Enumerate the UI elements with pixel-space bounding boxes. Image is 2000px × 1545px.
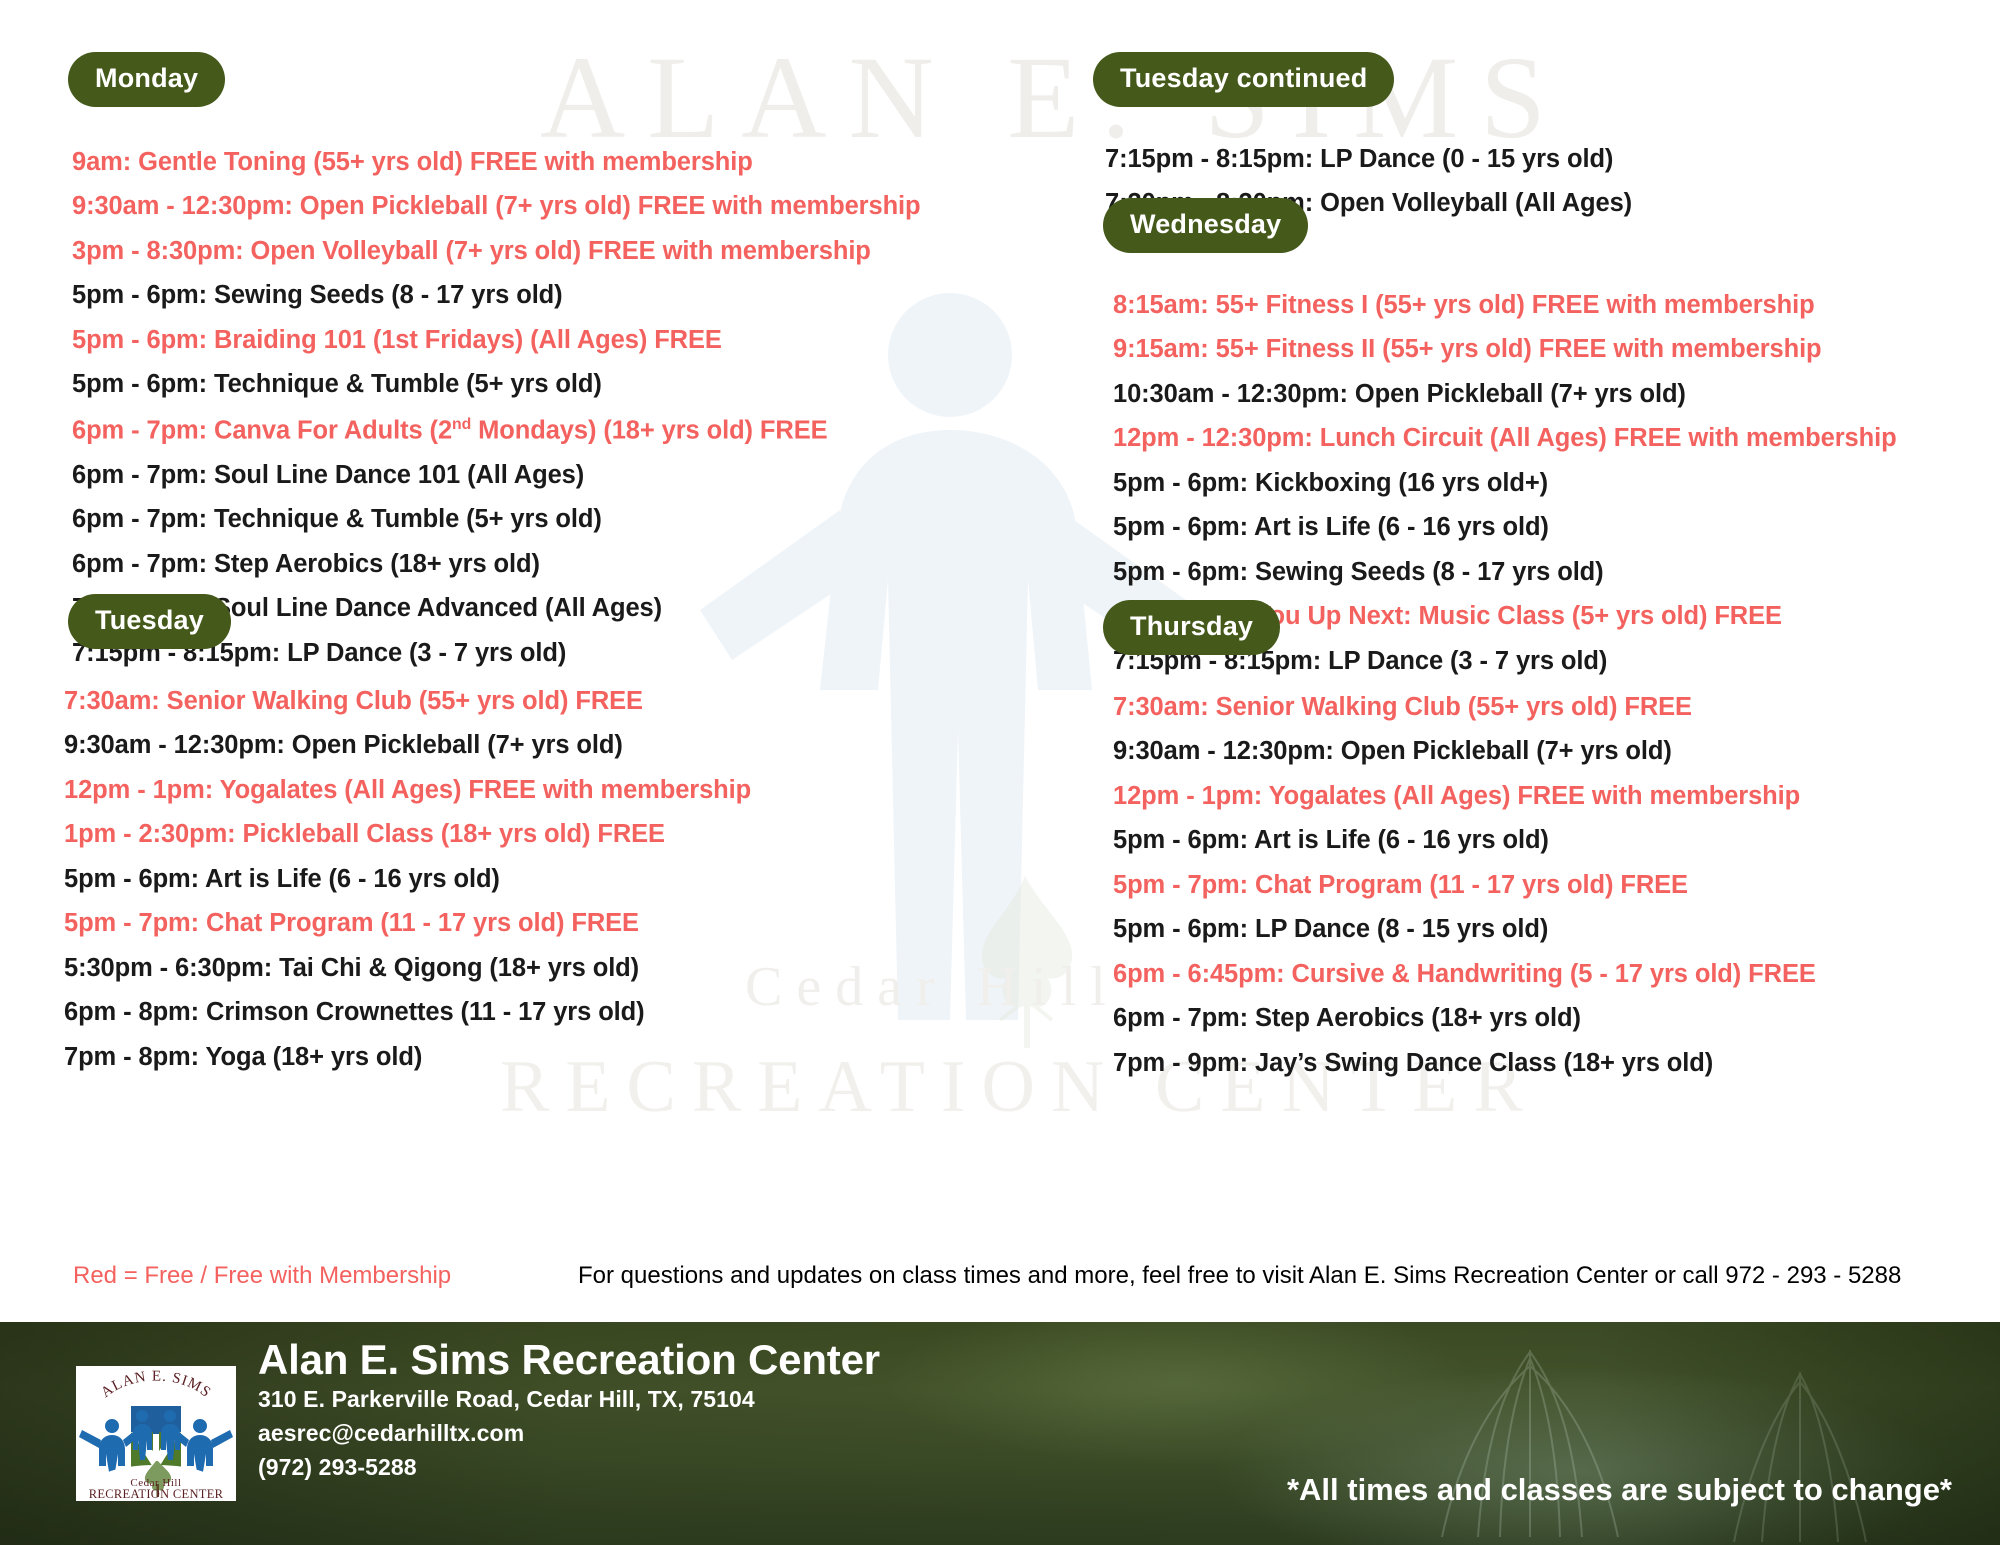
class-list-item: 9:15am: 55+ Fitness II (55+ yrs old) FRE…	[1113, 328, 1897, 373]
class-list-item: 5:30pm - 6:30pm: Tai Chi & Qigong (18+ y…	[64, 946, 751, 991]
class-list-item: 6pm - 8pm: Crimson Crownettes (11 - 17 y…	[64, 991, 751, 1036]
class-list-item: 10:30am - 12:30pm: Open Pickleball (7+ y…	[1113, 372, 1897, 417]
class-list-thursday: 7:30am: Senior Walking Club (55+ yrs old…	[1085, 685, 1816, 1086]
logo-artwork: ALAN E. SIMS	[76, 1366, 236, 1501]
footer-contact-block: Alan E. Sims Recreation Center 310 E. Pa…	[258, 1338, 880, 1484]
class-list-item: 9:30am - 12:30pm: Open Pickleball (7+ yr…	[72, 185, 921, 230]
class-list-item: 5pm - 6pm: Art is Life (6 - 16 yrs old)	[1113, 819, 1816, 864]
class-list-item: 12pm - 1pm: Yogalates (All Ages) FREE wi…	[1113, 774, 1816, 819]
class-list-tuesday: 7:30am: Senior Walking Club (55+ yrs old…	[60, 679, 751, 1080]
class-list-item: 6pm - 6:45pm: Cursive & Handwriting (5 -…	[1113, 952, 1816, 997]
schedule-columns: Monday 9am: Gentle Toning (55+ yrs old) …	[0, 0, 2000, 1300]
footer-phone[interactable]: (972) 293-5288	[258, 1450, 880, 1484]
class-list-item: 7pm - 8pm: Yoga (18+ yrs old)	[64, 1035, 751, 1080]
class-list-item: 7:30am: Senior Walking Club (55+ yrs old…	[1113, 685, 1816, 730]
fountain-icon	[1380, 1332, 1680, 1545]
class-list-item: 6pm - 7pm: Step Aerobics (18+ yrs old)	[1113, 997, 1816, 1042]
class-list-item: 6pm - 7pm: Canva For Adults (2nd Mondays…	[72, 407, 921, 453]
day-heading-tuesday: Tuesday	[68, 594, 231, 649]
class-list-item: 5pm - 6pm: Art is Life (6 - 16 yrs old)	[1113, 506, 1897, 551]
class-list-item: 5pm - 6pm: Technique & Tumble (5+ yrs ol…	[72, 363, 921, 408]
class-list-item: 6pm - 7pm: Technique & Tumble (5+ yrs ol…	[72, 498, 921, 543]
class-list-item: 5pm - 6pm: Braiding 101 (1st Fridays) (A…	[72, 318, 921, 363]
class-schedule-page: ALAN E. SIMS Cedar Hill RECREATION CENTE…	[0, 0, 2000, 1545]
class-list-item: 5pm - 6pm: LP Dance (8 - 15 yrs old)	[1113, 908, 1816, 953]
class-list-item: 3pm - 8:30pm: Open Volleyball (7+ yrs ol…	[72, 229, 921, 274]
recreation-center-logo: ALAN E. SIMS	[76, 1366, 236, 1501]
class-list-item: 12pm - 12:30pm: Lunch Circuit (All Ages)…	[1113, 417, 1897, 462]
class-list-item: 9:30am - 12:30pm: Open Pickleball (7+ yr…	[1113, 730, 1816, 775]
footer-address: 310 E. Parkerville Road, Cedar Hill, TX,…	[258, 1382, 880, 1416]
day-heading-wednesday: Wednesday	[1103, 198, 1308, 253]
class-list-item: 5pm - 6pm: Kickboxing (16 yrs old+)	[1113, 461, 1897, 506]
class-list-item: 7:15pm - 8:15pm: LP Dance (0 - 15 yrs ol…	[1105, 137, 1632, 182]
day-block-tuesday: Tuesday 7:30am: Senior Walking Club (55+…	[60, 594, 751, 1080]
day-heading-monday: Monday	[68, 52, 225, 107]
class-list-item: 5pm - 7pm: Chat Program (11 - 17 yrs old…	[64, 902, 751, 947]
class-list-item: 9am: Gentle Toning (55+ yrs old) FREE wi…	[72, 140, 921, 185]
class-list-item: 5pm - 7pm: Chat Program (11 - 17 yrs old…	[1113, 863, 1816, 908]
legend-red-key: Red = Free / Free with Membership	[73, 1262, 451, 1290]
footer-disclaimer: *All times and classes are subject to ch…	[1287, 1472, 1952, 1508]
day-heading-thursday: Thursday	[1103, 600, 1280, 655]
class-list-item: 5pm - 6pm: Art is Life (6 - 16 yrs old)	[64, 857, 751, 902]
class-list-item: 5pm - 6pm: Sewing Seeds (8 - 17 yrs old)	[72, 274, 921, 319]
day-block-thursday: Thursday 7:30am: Senior Walking Club (55…	[1085, 600, 1816, 1086]
footer-title: Alan E. Sims Recreation Center	[258, 1338, 880, 1382]
footer-email[interactable]: aesrec@cedarhilltx.com	[258, 1416, 880, 1450]
fountain-secondary-icon	[1700, 1362, 1900, 1545]
class-list-item: 9:30am - 12:30pm: Open Pickleball (7+ yr…	[64, 724, 751, 769]
class-list-item: 7:30am: Senior Walking Club (55+ yrs old…	[64, 679, 751, 724]
day-block-monday: Monday 9am: Gentle Toning (55+ yrs old) …	[60, 52, 921, 676]
class-list-item: 6pm - 7pm: Soul Line Dance 101 (All Ages…	[72, 453, 921, 498]
legend-contact-note: For questions and updates on class times…	[578, 1262, 1901, 1290]
class-list-item: 5pm - 6pm: Sewing Seeds (8 - 17 yrs old)	[1113, 550, 1897, 595]
class-list-item: 1pm - 2:30pm: Pickleball Class (18+ yrs …	[64, 813, 751, 858]
class-list-item: 12pm - 1pm: Yogalates (All Ages) FREE wi…	[64, 768, 751, 813]
class-list-item: 8:15am: 55+ Fitness I (55+ yrs old) FREE…	[1113, 283, 1897, 328]
class-list-item: 6pm - 7pm: Step Aerobics (18+ yrs old)	[72, 542, 921, 587]
class-list-item: 7pm - 9pm: Jay’s Swing Dance Class (18+ …	[1113, 1041, 1816, 1086]
logo-bottom-text: RECREATION CENTER	[89, 1487, 224, 1501]
day-heading-tuesday-continued: Tuesday continued	[1093, 52, 1394, 107]
